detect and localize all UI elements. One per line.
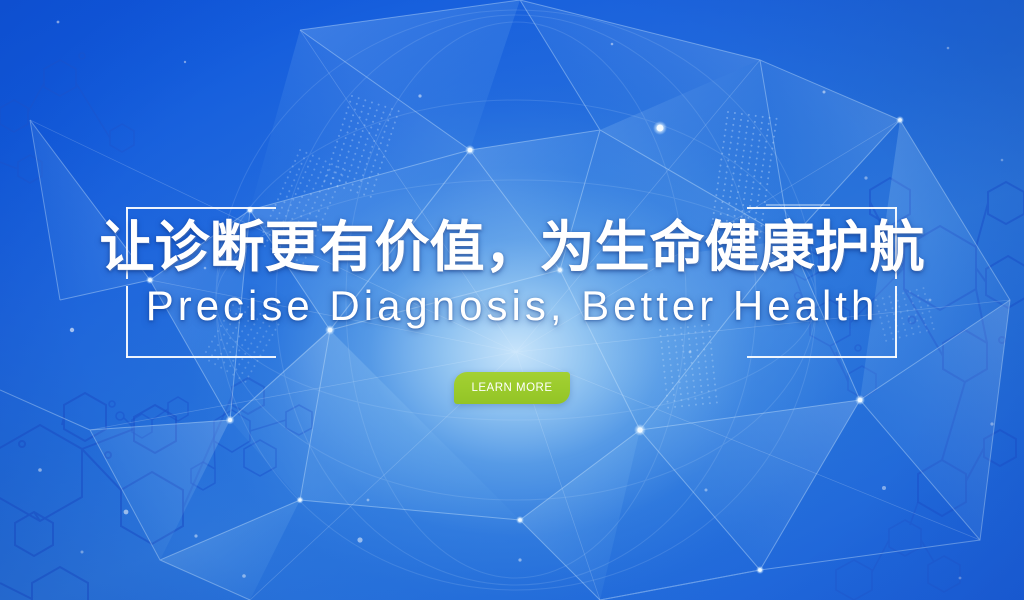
headline-english: Precise Diagnosis, Better Health (0, 282, 1024, 330)
hero-copy: 让诊断更有价值，为生命健康护航 Precise Diagnosis, Bette… (0, 216, 1024, 330)
learn-more-button[interactable]: LEARN MORE (454, 372, 569, 404)
cta-container: LEARN MORE (0, 372, 1024, 404)
headline-chinese: 让诊断更有价值，为生命健康护航 (0, 216, 1024, 278)
hero-banner: 让诊断更有价值，为生命健康护航 Precise Diagnosis, Bette… (0, 0, 1024, 600)
